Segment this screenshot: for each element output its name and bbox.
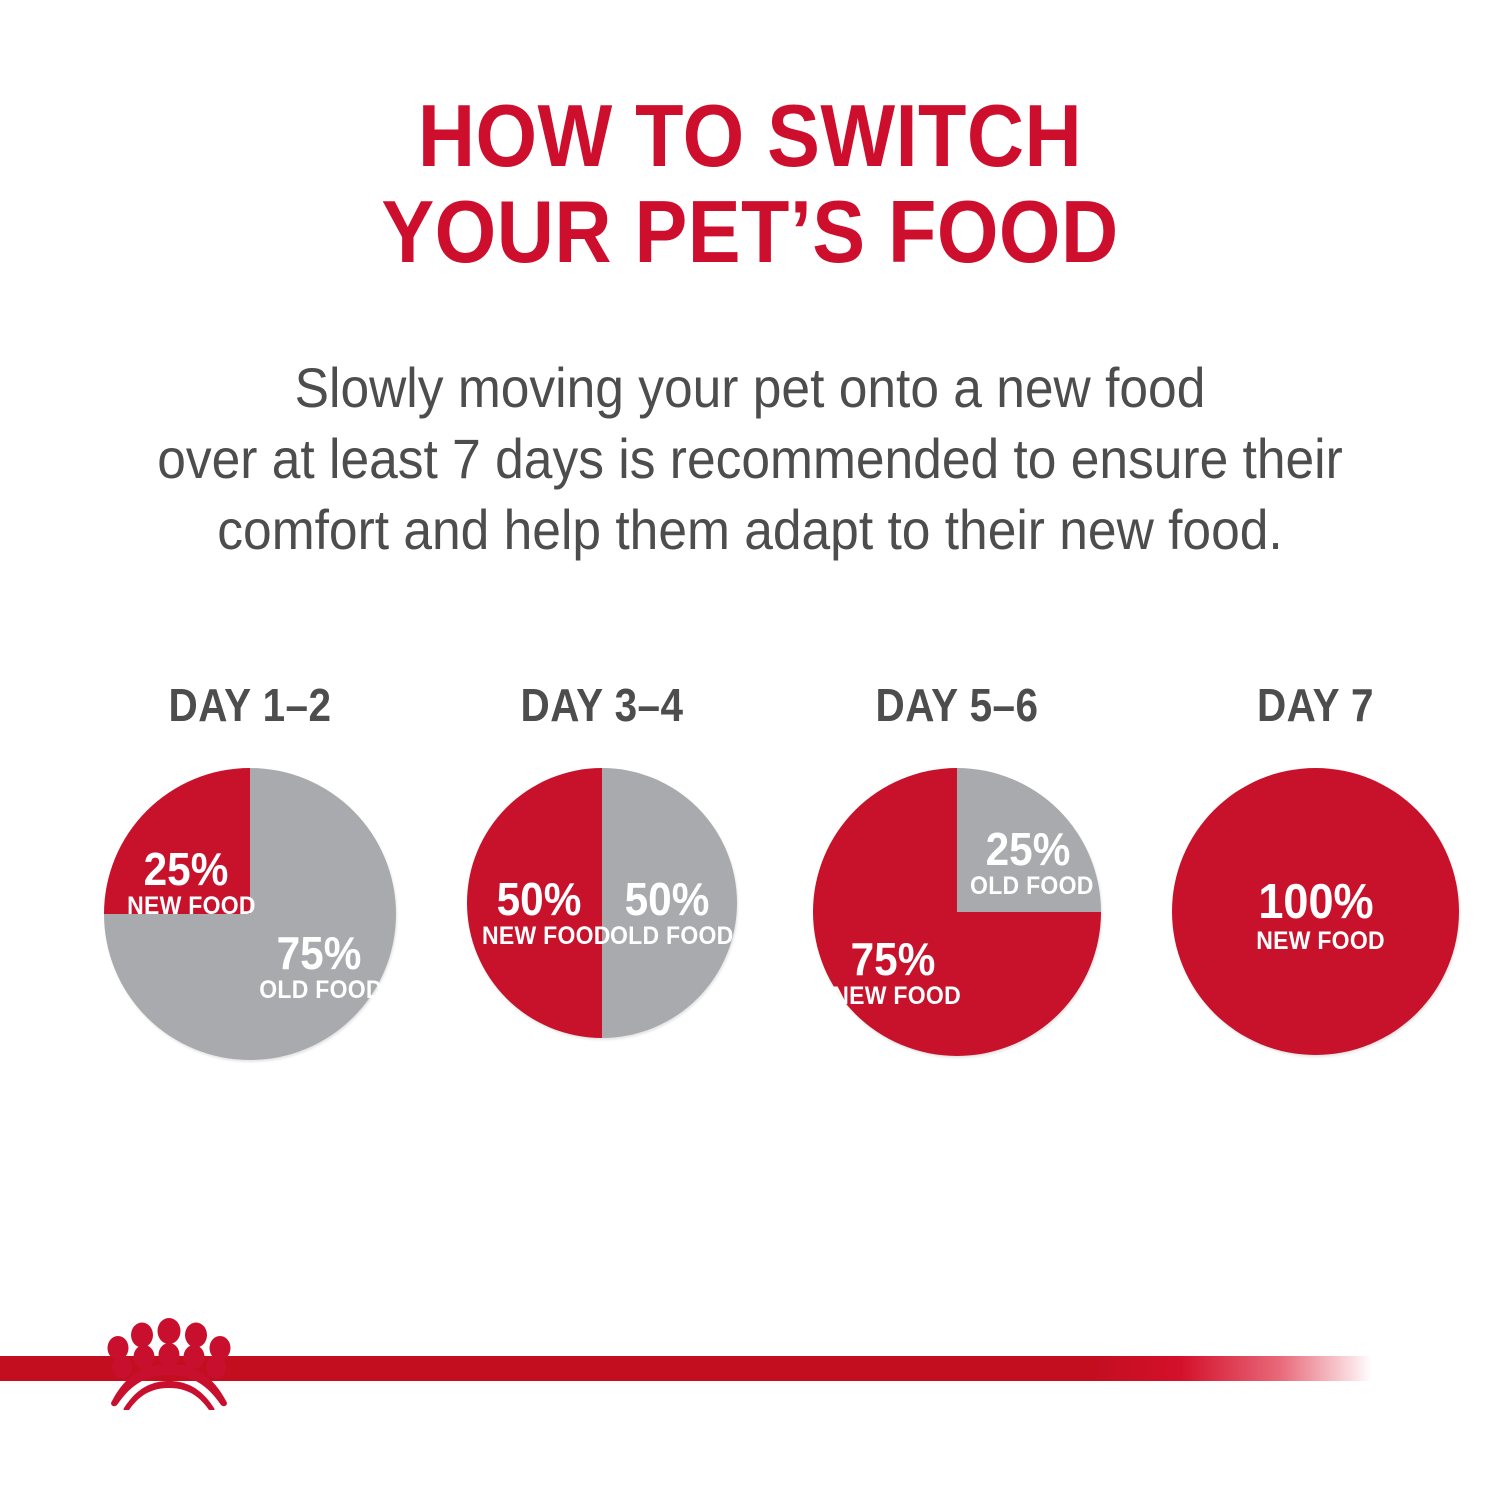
pie-chart-2: 50% NEW FOOD 50% OLD FOOD xyxy=(467,768,737,1038)
pie-group-day-1-2: DAY 1–2 25% NEW FOOD 75% OLD FOOD xyxy=(104,680,396,1060)
pie-svg-2 xyxy=(467,768,737,1038)
pie-slice-old-food-3 xyxy=(957,768,1101,912)
intro-line-1: Slowly moving your pet onto a new food xyxy=(60,352,1440,423)
pie-day-label-2: DAY 3–4 xyxy=(483,680,721,730)
pie-chart-3: 25% OLD FOOD 75% NEW FOOD xyxy=(813,768,1101,1056)
page-title-line-1: HOW TO SWITCH xyxy=(75,88,1425,184)
crown-icon xyxy=(96,1318,242,1410)
pie-day-label-3: DAY 5–6 xyxy=(830,680,1083,730)
pie-svg-1 xyxy=(104,768,396,1060)
pie-group-day-7: DAY 7 100% NEW FOOD xyxy=(1172,680,1459,1055)
page-title-line-2: YOUR PET’S FOOD xyxy=(75,184,1425,280)
pie-chart-1: 25% NEW FOOD 75% OLD FOOD xyxy=(104,768,396,1060)
pie-day-label-4: DAY 7 xyxy=(1189,680,1442,730)
intro-line-2: over at least 7 days is recommended to e… xyxy=(60,423,1440,494)
pie-slice-old-food-2 xyxy=(602,768,737,1038)
pie-svg-4 xyxy=(1172,768,1459,1055)
pie-svg-3 xyxy=(813,768,1101,1056)
infographic-page: HOW TO SWITCH YOUR PET’S FOOD Slowly mov… xyxy=(0,0,1500,1500)
pie-chart-4: 100% NEW FOOD xyxy=(1172,768,1459,1055)
pie-group-day-5-6: DAY 5–6 25% OLD FOOD 75% NEW FOOD xyxy=(813,680,1101,1056)
intro-line-3: comfort and help them adapt to their new… xyxy=(60,494,1440,565)
pie-group-day-3-4: DAY 3–4 50% NEW FOOD 50% OLD FOOD xyxy=(467,680,737,1038)
intro-paragraph: Slowly moving your pet onto a new food o… xyxy=(0,352,1500,565)
pie-day-label-1: DAY 1–2 xyxy=(122,680,379,730)
pie-chart-row: DAY 1–2 25% NEW FOOD 75% OLD FOOD xyxy=(0,680,1500,1080)
royal-canin-crown-logo xyxy=(96,1318,242,1410)
pie-slice-new-food-4 xyxy=(1172,768,1459,1055)
pie-slice-new-food-2 xyxy=(467,768,602,1038)
page-title: HOW TO SWITCH YOUR PET’S FOOD xyxy=(0,88,1500,280)
pie-slice-new-food-1 xyxy=(104,768,250,914)
